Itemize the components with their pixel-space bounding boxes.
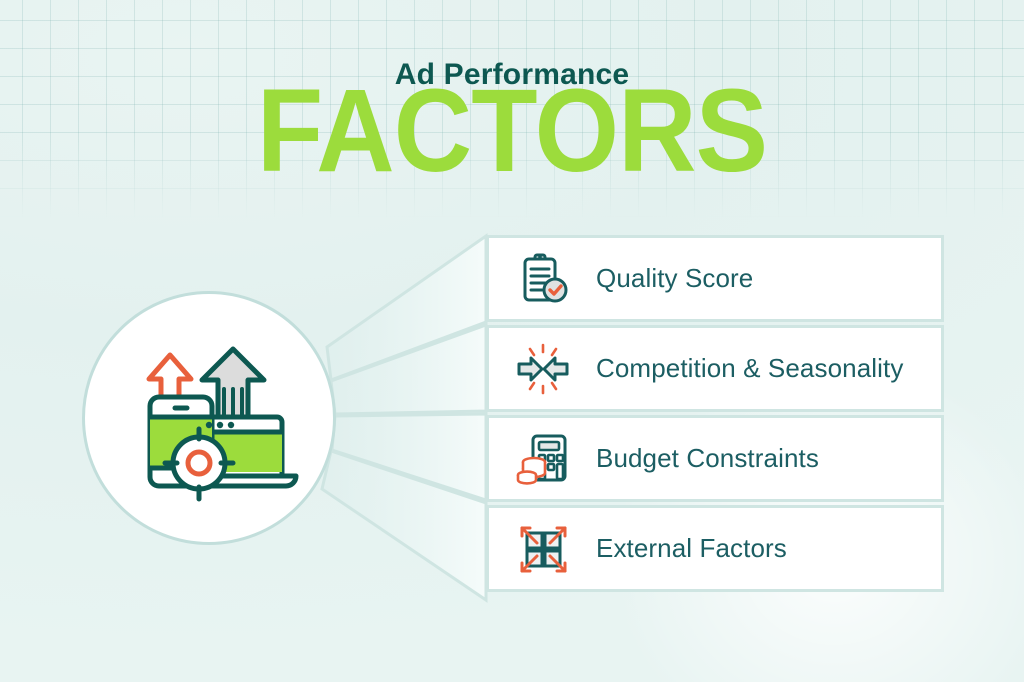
factor-row-quality-score[interactable]: Quality Score bbox=[486, 235, 944, 322]
factor-label: Quality Score bbox=[596, 263, 753, 294]
infographic-canvas: FACTORS Ad Performance bbox=[0, 0, 1024, 682]
factor-label: External Factors bbox=[596, 533, 787, 564]
opposing-arrows-impact-icon bbox=[516, 342, 570, 396]
eyebrow-ad-performance: Ad Performance bbox=[0, 58, 1024, 92]
connector-band-3 bbox=[332, 414, 486, 500]
calculator-coins-icon bbox=[516, 432, 570, 486]
factor-label: Competition & Seasonality bbox=[596, 353, 903, 384]
row-icon-wrap bbox=[514, 340, 572, 398]
row-icon-wrap bbox=[514, 430, 572, 488]
factor-row-external-factors[interactable]: External Factors bbox=[486, 505, 944, 592]
connector-band-1 bbox=[327, 236, 486, 380]
expand-squares-icon bbox=[516, 522, 570, 576]
title-block: FACTORS Ad Performance bbox=[0, 58, 1024, 218]
connector-band-4 bbox=[322, 451, 486, 600]
browser-dots bbox=[206, 422, 234, 428]
connector-band-2 bbox=[331, 325, 486, 414]
factor-list: Quality Score Competitio bbox=[486, 235, 944, 592]
row-icon-wrap bbox=[514, 250, 572, 308]
factor-row-competition-seasonality[interactable]: Competition & Seasonality bbox=[486, 325, 944, 412]
devices-growth-target-icon bbox=[114, 333, 304, 503]
center-circle bbox=[82, 291, 336, 545]
factor-label: Budget Constraints bbox=[596, 443, 819, 474]
clipboard-check-icon bbox=[516, 252, 570, 306]
row-icon-wrap bbox=[514, 520, 572, 578]
factor-row-budget-constraints[interactable]: Budget Constraints bbox=[486, 415, 944, 502]
